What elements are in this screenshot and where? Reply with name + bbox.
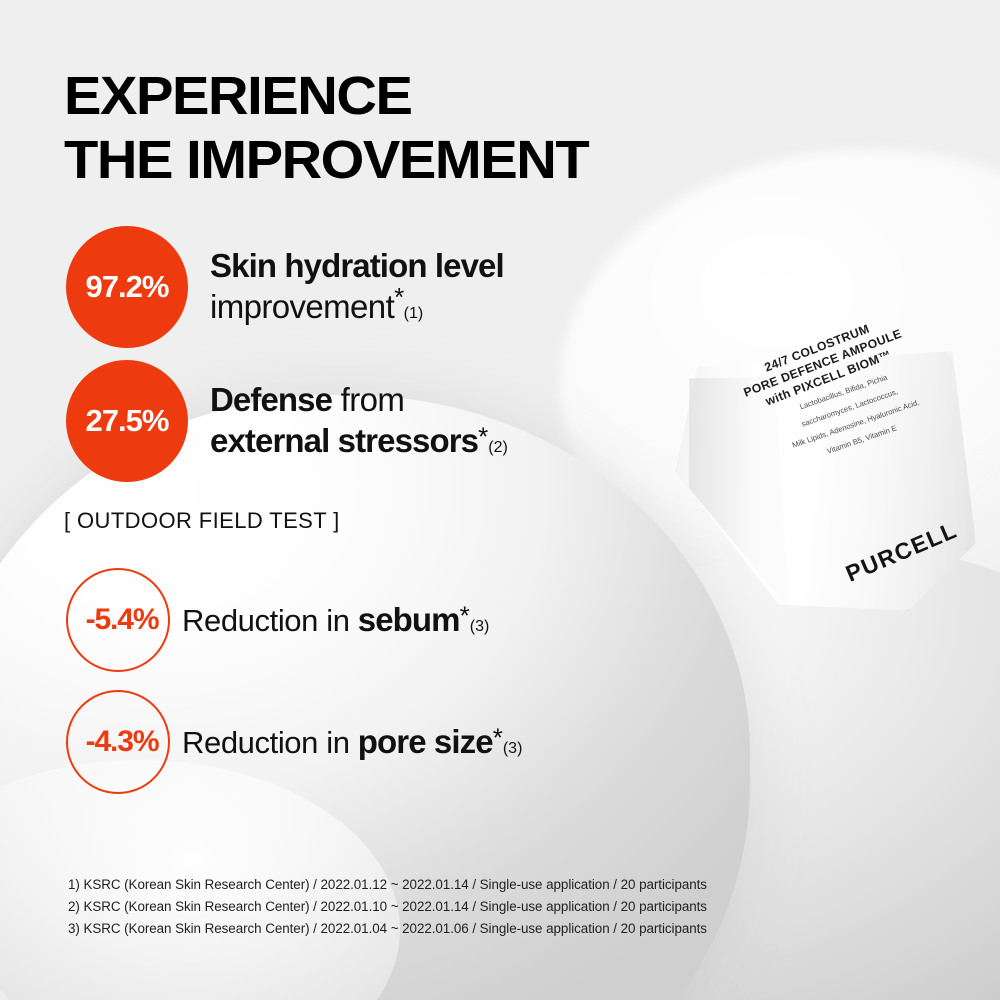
stat-line-1-rest-defense: from [332, 381, 404, 418]
content-layer: EXPERIENCE THE IMPROVEMENT 97.2% Skin hy… [0, 0, 1000, 1000]
stat-ref-defense: (2) [488, 439, 508, 456]
stat-row-sebum: -5.4% Reduction in sebum*(3) [66, 568, 489, 672]
footnote-1: 1) KSRC (Korean Skin Research Center) / … [68, 874, 707, 896]
stat-line-sebum: Reduction in sebum*(3) [182, 600, 489, 641]
stat-text-sebum: Reduction in sebum*(3) [182, 600, 489, 641]
stat-text-pore-size: Reduction in pore size*(3) [182, 722, 522, 763]
footnote-2: 2) KSRC (Korean Skin Research Center) / … [68, 896, 707, 918]
stat-value-pore-size: -4.3% [86, 725, 159, 759]
stat-badge-hydration: 97.2% [66, 226, 188, 348]
promo-canvas: 24/7 COLOSTRUM PORE DEFENCE AMPOULE with… [0, 0, 1000, 1000]
stat-line-pore-size: Reduction in pore size*(3) [182, 722, 522, 763]
stat-line-regular-pore-size: Reduction in [182, 725, 358, 760]
stat-line-2-text-hydration: improvement [210, 288, 394, 325]
stat-row-hydration: 97.2% Skin hydration level improvement*(… [66, 226, 504, 348]
page-title-line-1: EXPERIENCE [64, 64, 588, 128]
stat-line-bold-sebum: sebum [358, 601, 460, 638]
stat-text-hydration: Skin hydration level improvement*(1) [210, 246, 504, 327]
stat-ref-sebum: (3) [470, 618, 490, 635]
stat-ref-pore-size: (3) [503, 740, 523, 757]
stat-line-bold-pore-size: pore size [358, 723, 493, 760]
stat-line-2-bold-defense: external stressors [210, 422, 478, 459]
stat-row-pore-size: -4.3% Reduction in pore size*(3) [66, 690, 522, 794]
stat-line-2-hydration: improvement*(1) [210, 287, 504, 328]
section-label-outdoor-field-test: [ OUTDOOR FIELD TEST ] [64, 508, 340, 534]
stat-star-sebum: * [460, 600, 470, 630]
stat-text-defense: Defense from external stressors*(2) [210, 380, 508, 461]
footnotes: 1) KSRC (Korean Skin Research Center) / … [68, 874, 707, 940]
page-title-line-2: THE IMPROVEMENT [64, 128, 588, 192]
footnote-3: 3) KSRC (Korean Skin Research Center) / … [68, 918, 707, 940]
page-title: EXPERIENCE THE IMPROVEMENT [64, 64, 588, 193]
stat-line-regular-sebum: Reduction in [182, 603, 358, 638]
stat-value-defense: 27.5% [86, 403, 169, 439]
stat-line-1-hydration: Skin hydration level [210, 246, 504, 287]
stat-value-hydration: 97.2% [86, 269, 169, 305]
stat-badge-sebum: -5.4% [66, 568, 170, 672]
stat-line-2-defense: external stressors*(2) [210, 421, 508, 462]
stat-star-hydration: * [394, 282, 404, 312]
stat-badge-defense: 27.5% [66, 360, 188, 482]
stat-row-defense: 27.5% Defense from external stressors*(2… [66, 360, 508, 482]
stat-star-pore-size: * [493, 722, 503, 752]
stat-badge-pore-size: -4.3% [66, 690, 170, 794]
stat-line-1-bold-defense: Defense [210, 381, 332, 418]
stat-line-1-defense: Defense from [210, 380, 508, 421]
stat-ref-hydration: (1) [404, 305, 424, 322]
stat-star-defense: * [478, 422, 488, 452]
stat-value-sebum: -5.4% [86, 603, 159, 637]
